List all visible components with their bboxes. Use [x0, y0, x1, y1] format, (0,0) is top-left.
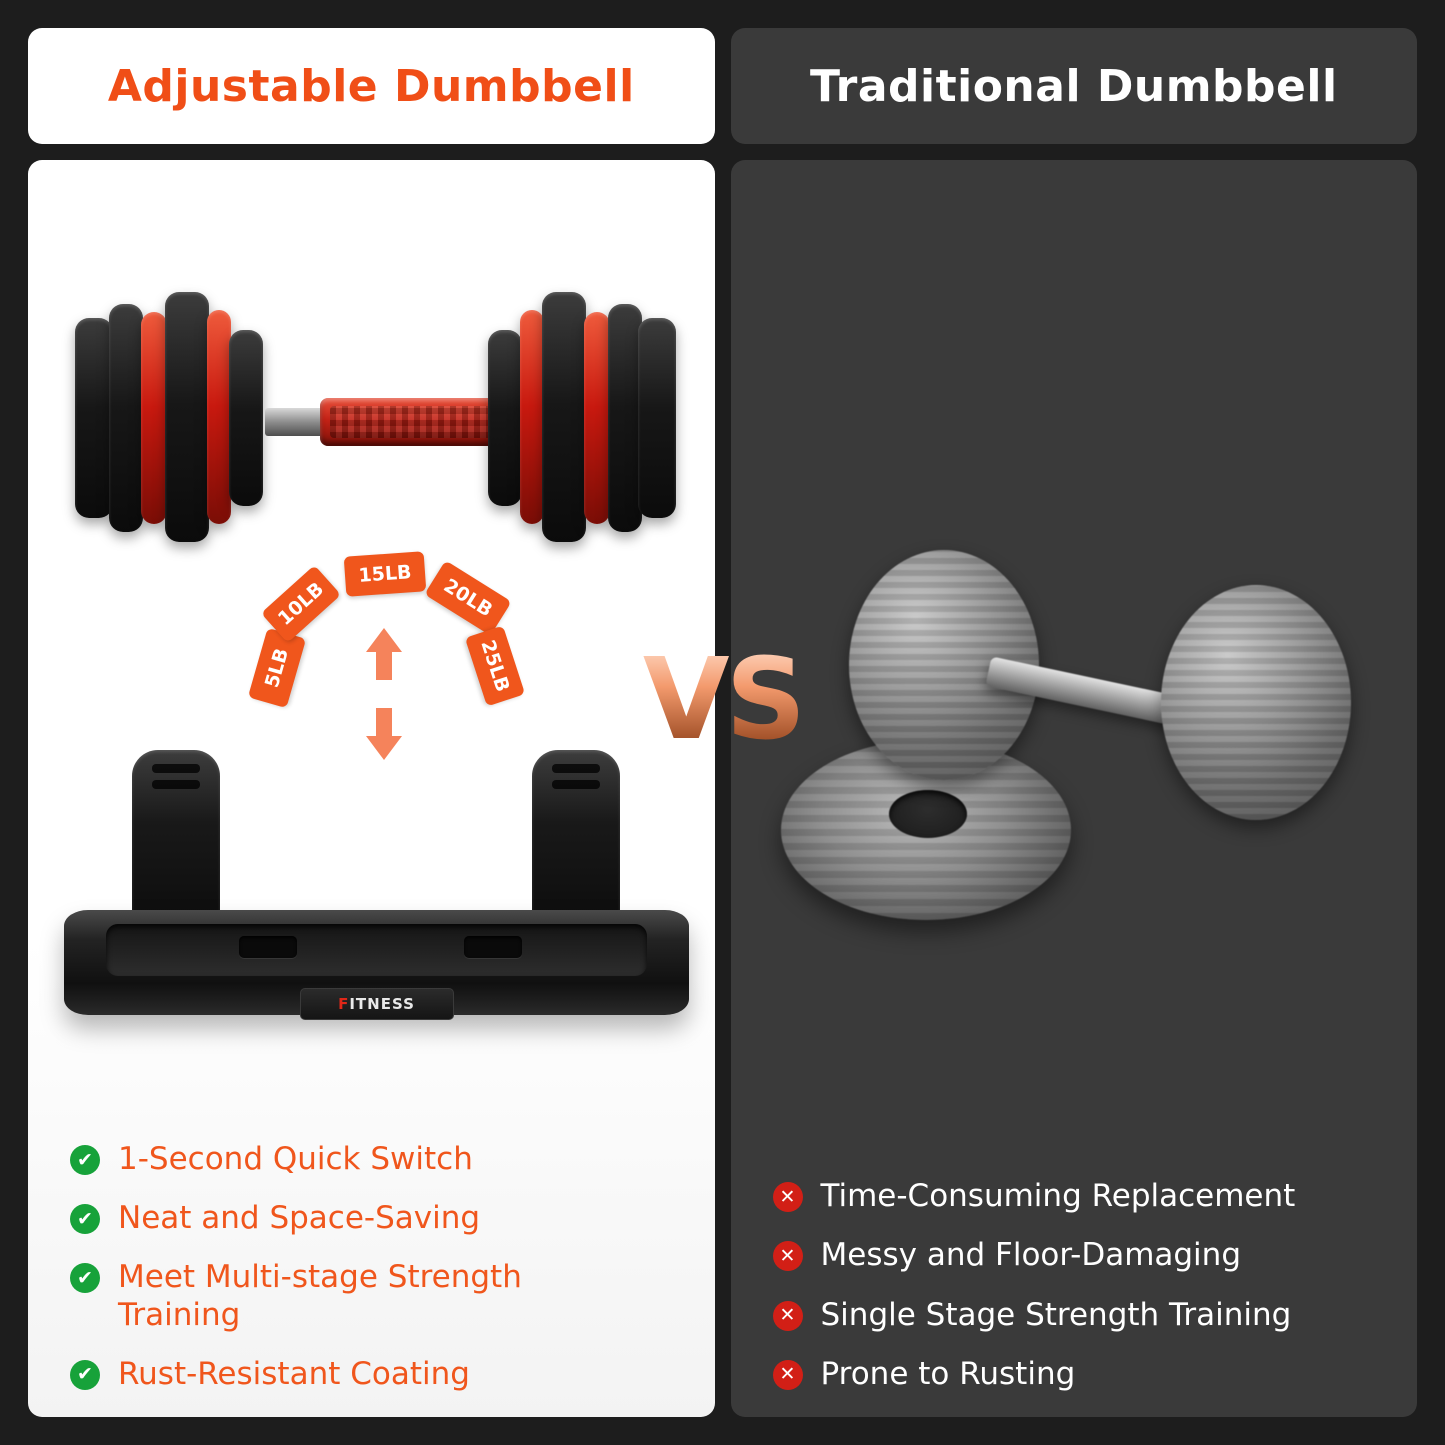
plate: [488, 330, 522, 506]
list-item-label: Prone to Rusting: [821, 1356, 1076, 1393]
list-item-label: Single Stage Strength Training: [821, 1297, 1292, 1334]
plate: [165, 292, 209, 542]
plate: [638, 318, 676, 518]
plate-ridges: [1161, 585, 1351, 820]
cross-icon: ✕: [773, 1241, 803, 1271]
shaft-left: [265, 408, 325, 436]
right-panel: ✕ Time-Consuming Replacement ✕ Messy and…: [731, 160, 1418, 1417]
cross-icon: ✕: [773, 1360, 803, 1390]
list-item-label: Time-Consuming Replacement: [821, 1178, 1296, 1215]
list-item: ✕ Prone to Rusting: [773, 1356, 1376, 1393]
list-item: ✕ Messy and Floor-Damaging: [773, 1237, 1376, 1274]
stand-arm-left: [132, 750, 220, 930]
plate: [608, 304, 642, 532]
arm-notch: [152, 764, 200, 773]
dial-segment-25lb[interactable]: 25LB: [465, 626, 525, 707]
left-header-title: Adjustable Dumbbell: [108, 61, 635, 112]
stand-slot: [464, 936, 522, 958]
dial-segment-5lb[interactable]: 5LB: [248, 628, 306, 708]
arm-notch: [552, 780, 600, 789]
left-plate-stack: [75, 290, 280, 545]
list-item: ✔ Rust-Resistant Coating: [70, 1356, 673, 1393]
brand-mark-icon: F: [338, 995, 348, 1013]
stand-base-inner: [106, 924, 647, 976]
plate: [542, 292, 586, 542]
brand-badge: F ITNESS: [300, 988, 454, 1020]
cross-icon: ✕: [773, 1301, 803, 1331]
arm-notch: [152, 780, 200, 789]
versus-badge: VS: [643, 644, 802, 756]
plate: [109, 304, 143, 532]
left-panel: 5LB 10LB 15LB 20LB 25LB: [28, 160, 715, 1417]
plate: [207, 310, 231, 524]
dumbbell-stand: F ITNESS: [64, 750, 689, 1050]
plate: [141, 312, 167, 524]
list-item: ✕ Time-Consuming Replacement: [773, 1178, 1376, 1215]
plate: [229, 330, 263, 506]
plate: [520, 310, 544, 524]
stand-arm-right: [532, 750, 620, 930]
check-icon: ✔: [70, 1145, 100, 1175]
traditional-dumbbell-graphic: [771, 490, 1386, 960]
arrow-up-icon: [366, 628, 402, 680]
list-item-label: Neat and Space-Saving: [118, 1200, 480, 1237]
comparison-infographic: Adjustable Dumbbell: [0, 0, 1445, 1445]
dial-segment-15lb[interactable]: 15LB: [344, 551, 427, 596]
right-column: Traditional Dumbbell: [731, 28, 1418, 1417]
check-icon: ✔: [70, 1263, 100, 1293]
list-item-label: Meet Multi-stage Strength Training: [118, 1259, 588, 1333]
right-plate-stack: [470, 290, 675, 545]
right-header-title: Traditional Dumbbell: [810, 61, 1338, 112]
brand-name: ITNESS: [349, 995, 415, 1013]
check-icon: ✔: [70, 1204, 100, 1234]
plate-hole: [889, 790, 967, 838]
right-drawback-list: ✕ Time-Consuming Replacement ✕ Messy and…: [731, 1178, 1418, 1393]
plate-stack-right: [1161, 585, 1351, 820]
list-item-label: Rust-Resistant Coating: [118, 1356, 470, 1393]
check-icon: ✔: [70, 1360, 100, 1390]
left-column: Adjustable Dumbbell: [28, 28, 715, 1417]
dumbbell-graphic: [80, 290, 670, 545]
list-item: ✔ Neat and Space-Saving: [70, 1200, 673, 1237]
right-header: Traditional Dumbbell: [731, 28, 1418, 144]
list-item-label: 1-Second Quick Switch: [118, 1141, 473, 1178]
plate: [75, 318, 113, 518]
left-header: Adjustable Dumbbell: [28, 28, 715, 144]
stand-slot: [239, 936, 297, 958]
stand-base: F ITNESS: [64, 910, 689, 1015]
list-item: ✔ Meet Multi-stage Strength Training: [70, 1259, 673, 1333]
arm-notch: [552, 764, 600, 773]
list-item: ✔ 1-Second Quick Switch: [70, 1141, 673, 1178]
plate: [584, 312, 610, 524]
dial-segment-20lb[interactable]: 20LB: [424, 560, 511, 635]
list-item: ✕ Single Stage Strength Training: [773, 1297, 1376, 1334]
list-item-label: Messy and Floor-Damaging: [821, 1237, 1242, 1274]
left-feature-list: ✔ 1-Second Quick Switch ✔ Neat and Space…: [28, 1141, 715, 1393]
cross-icon: ✕: [773, 1182, 803, 1212]
